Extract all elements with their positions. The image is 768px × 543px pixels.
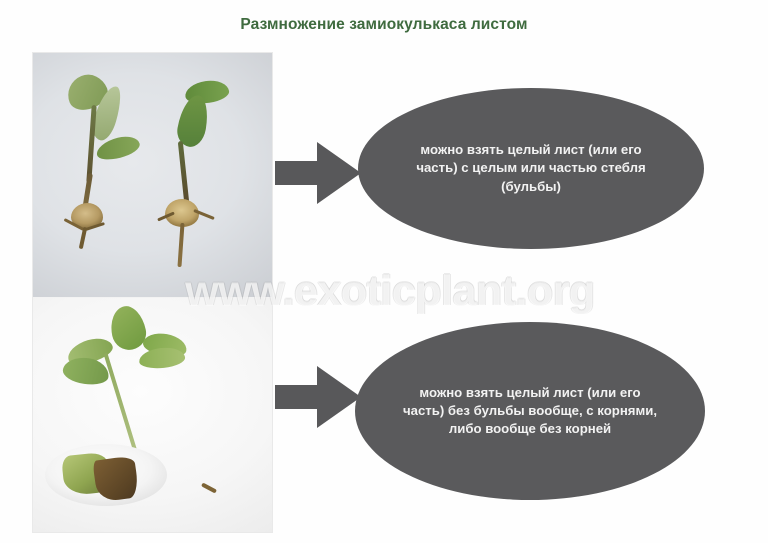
arrow-right-icon [275, 142, 361, 204]
photo-column [33, 53, 272, 532]
leaf-shape [138, 346, 186, 371]
stem-shape [86, 105, 96, 183]
photo-leaf-without-bulb [33, 298, 272, 532]
root-shape [201, 482, 217, 493]
arrow-head [317, 142, 361, 204]
arrow-shaft [275, 385, 321, 409]
callout-ellipse-top: можно взять целый лист (или его часть) с… [358, 88, 704, 249]
slide-canvas: Размножение замиокулькаса листом [0, 0, 768, 543]
callout-ellipse-bottom: можно взять целый лист (или его часть) б… [355, 322, 705, 500]
stem-shape [178, 141, 189, 203]
root-shape [177, 223, 184, 267]
root-shape [79, 227, 87, 249]
photo-leaf-cuttings-with-bulbs [33, 53, 272, 297]
callout-text: можно взять целый лист (или его часть) с… [358, 141, 704, 196]
page-title: Размножение замиокулькаса листом [0, 16, 768, 34]
arrow-shaft [275, 161, 321, 185]
arrow-right-icon [275, 366, 361, 428]
callout-text: можно взять целый лист (или его часть) б… [355, 384, 705, 439]
